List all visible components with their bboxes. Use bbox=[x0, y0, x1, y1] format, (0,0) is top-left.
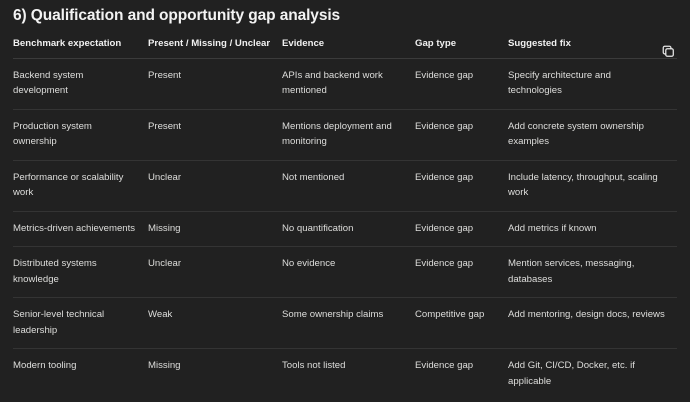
cell-evidence: Mentions deployment and monitoring bbox=[282, 109, 415, 160]
cell-evidence: No quantification bbox=[282, 211, 415, 247]
cell-gap-type: Evidence gap bbox=[415, 247, 508, 298]
cell-gap-type: Competitive gap bbox=[415, 298, 508, 349]
cell-status: Unclear bbox=[148, 247, 282, 298]
table-row: Distributed systems knowledge Unclear No… bbox=[13, 247, 677, 298]
copy-button[interactable] bbox=[659, 42, 677, 60]
cell-status: Missing bbox=[148, 211, 282, 247]
cell-evidence: No evidence bbox=[282, 247, 415, 298]
column-header-present-missing-unclear: Present / Missing / Unclear bbox=[148, 38, 282, 58]
cell-evidence: Not mentioned bbox=[282, 160, 415, 211]
cell-benchmark: Backend system development bbox=[13, 58, 148, 109]
table-body: Backend system development Present APIs … bbox=[13, 58, 677, 399]
cell-suggested-fix: Include latency, throughput, scaling wor… bbox=[508, 160, 677, 211]
cell-benchmark: Modern tooling bbox=[13, 349, 148, 400]
cell-benchmark: Metrics-driven achievements bbox=[13, 211, 148, 247]
table-container: Benchmark expectation Present / Missing … bbox=[13, 38, 677, 399]
copy-icon bbox=[661, 44, 676, 59]
cell-status: Present bbox=[148, 109, 282, 160]
table-row: Senior-level technical leadership Weak S… bbox=[13, 298, 677, 349]
cell-suggested-fix: Mention services, messaging, databases bbox=[508, 247, 677, 298]
cell-gap-type: Evidence gap bbox=[415, 109, 508, 160]
cell-suggested-fix: Add Git, CI/CD, Docker, etc. if applicab… bbox=[508, 349, 677, 400]
cell-benchmark: Production system ownership bbox=[13, 109, 148, 160]
table-header-row: Benchmark expectation Present / Missing … bbox=[13, 38, 677, 58]
cell-suggested-fix: Specify architecture and technologies bbox=[508, 58, 677, 109]
table-row: Backend system development Present APIs … bbox=[13, 58, 677, 109]
table-header: Benchmark expectation Present / Missing … bbox=[13, 38, 677, 58]
cell-evidence: APIs and backend work mentioned bbox=[282, 58, 415, 109]
gap-analysis-panel: 6) Qualification and opportunity gap ana… bbox=[0, 0, 690, 402]
cell-status: Present bbox=[148, 58, 282, 109]
page-title: 6) Qualification and opportunity gap ana… bbox=[13, 0, 677, 27]
table-row: Metrics-driven achievements Missing No q… bbox=[13, 211, 677, 247]
cell-gap-type: Evidence gap bbox=[415, 160, 508, 211]
cell-benchmark: Performance or scalability work bbox=[13, 160, 148, 211]
cell-gap-type: Evidence gap bbox=[415, 349, 508, 400]
cell-evidence: Some ownership claims bbox=[282, 298, 415, 349]
column-header-evidence: Evidence bbox=[282, 38, 415, 58]
column-header-benchmark-expectation: Benchmark expectation bbox=[13, 38, 148, 58]
column-header-suggested-fix: Suggested fix bbox=[508, 38, 677, 58]
cell-benchmark: Distributed systems knowledge bbox=[13, 247, 148, 298]
cell-suggested-fix: Add mentoring, design docs, reviews bbox=[508, 298, 677, 349]
gap-analysis-table: Benchmark expectation Present / Missing … bbox=[13, 38, 677, 399]
table-row: Production system ownership Present Ment… bbox=[13, 109, 677, 160]
cell-status: Unclear bbox=[148, 160, 282, 211]
cell-suggested-fix: Add concrete system ownership examples bbox=[508, 109, 677, 160]
cell-evidence: Tools not listed bbox=[282, 349, 415, 400]
cell-gap-type: Evidence gap bbox=[415, 58, 508, 109]
table-row: Modern tooling Missing Tools not listed … bbox=[13, 349, 677, 400]
cell-status: Missing bbox=[148, 349, 282, 400]
table-row: Performance or scalability work Unclear … bbox=[13, 160, 677, 211]
cell-gap-type: Evidence gap bbox=[415, 211, 508, 247]
column-header-gap-type: Gap type bbox=[415, 38, 508, 58]
cell-suggested-fix: Add metrics if known bbox=[508, 211, 677, 247]
cell-benchmark: Senior-level technical leadership bbox=[13, 298, 148, 349]
cell-status: Weak bbox=[148, 298, 282, 349]
